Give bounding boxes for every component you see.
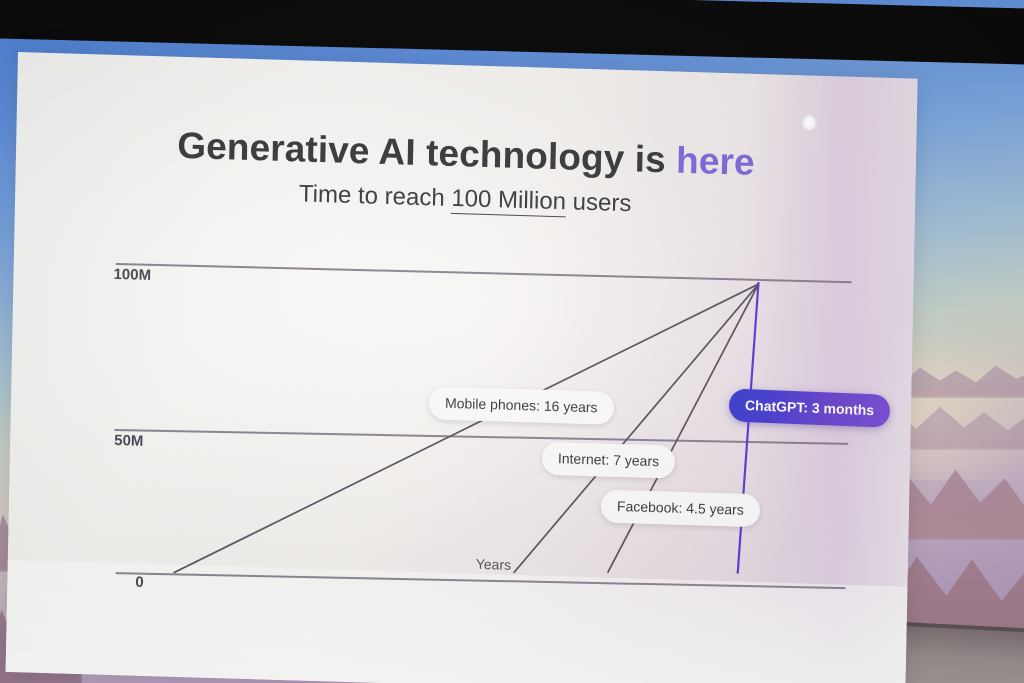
adoption-speed-line-chart: 100M 50M 0 Years Mobile phones: 16 year [6,52,918,683]
trend-lines-group [6,52,918,683]
trend-line-mobile-phones [174,267,759,590]
trend-line-facebook [608,280,759,577]
callout-mobile-phones[interactable]: Mobile phones: 16 years [429,386,614,424]
presentation-slide: Generative AI technology is here Time to… [6,52,918,683]
photo-of-presentation-screen: Generative AI technology is here Time to… [0,0,1024,683]
callout-internet[interactable]: Internet: 7 years [542,442,676,479]
callout-internet-label: Internet: 7 years [558,450,659,469]
callout-facebook[interactable]: Facebook: 4.5 years [601,489,760,527]
trend-line-internet [514,277,759,580]
callout-facebook-label: Facebook: 4.5 years [617,498,744,518]
trend-line-chatgpt [738,282,759,574]
callout-chatgpt-label: ChatGPT: 3 months [745,397,875,418]
callout-mobile-phones-label: Mobile phones: 16 years [445,395,598,416]
callout-chatgpt[interactable]: ChatGPT: 3 months [729,388,891,427]
